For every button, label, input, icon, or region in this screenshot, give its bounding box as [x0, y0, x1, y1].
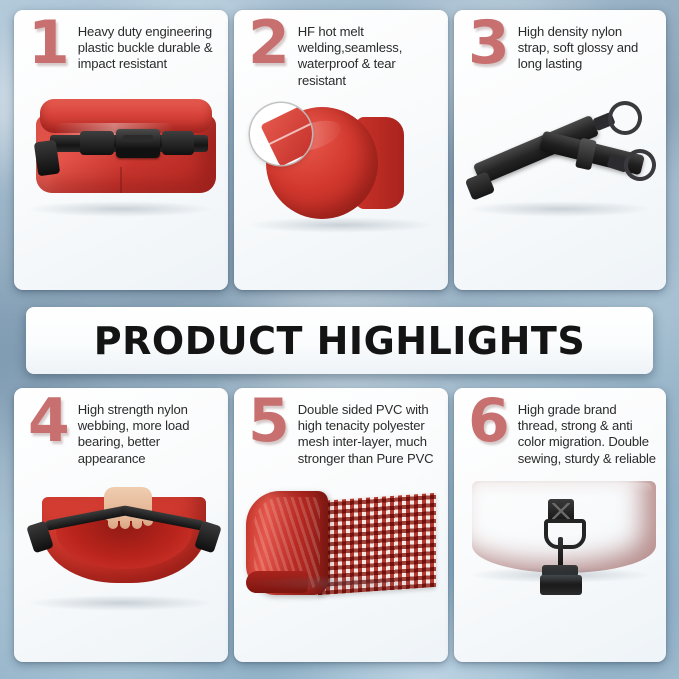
feature-image-2 [234, 93, 448, 245]
magnifier-callout-icon [250, 103, 312, 165]
feature-image-1 [14, 77, 228, 229]
feature-card-6: 6 High grade brand thread, strong & anti… [454, 388, 666, 662]
black-nylon-shoulder-strap-photo [466, 91, 662, 203]
feature-text-2: HF hot melt welding,seamless, waterproof… [298, 21, 438, 89]
feature-number-6: 6 [468, 395, 510, 447]
product-highlights-banner: PRODUCT HIGHLIGHTS [26, 307, 653, 374]
feature-card-4: 4 High strength nylon webbing, more load… [14, 388, 228, 662]
product-shadow [467, 567, 654, 583]
feature-header-2: 2 HF hot melt welding,seamless, waterpro… [234, 10, 448, 89]
hand-holding-bag-webbing-photo [26, 483, 222, 599]
feature-number-3: 3 [468, 17, 510, 69]
feature-text-5: Double sided PVC with high tenacity poly… [298, 399, 438, 467]
feature-card-5: 5 Double sided PVC with high tenacity po… [234, 388, 448, 662]
feature-header-3: 3 High density nylon strap, soft glossy … [454, 10, 666, 73]
feature-text-1: Heavy duty engineering plastic buckle du… [78, 21, 218, 73]
product-shadow [27, 595, 215, 611]
feature-image-5 [234, 475, 448, 603]
feature-card-1: 1 Heavy duty engineering plastic buckle … [14, 10, 228, 290]
infographic-canvas: 1 Heavy duty engineering plastic buckle … [0, 0, 679, 679]
feature-header-4: 4 High strength nylon webbing, more load… [14, 388, 228, 467]
feature-text-3: High density nylon strap, soft glossy an… [518, 21, 656, 73]
feature-number-4: 4 [28, 395, 70, 447]
feature-header-1: 1 Heavy duty engineering plastic buckle … [14, 10, 228, 73]
product-shadow [27, 201, 215, 217]
feature-header-6: 6 High grade brand thread, strong & anti… [454, 388, 666, 467]
feature-image-6 [454, 469, 666, 595]
red-dry-bag-with-black-buckle-photo [28, 93, 224, 197]
feature-card-3: 3 High density nylon strap, soft glossy … [454, 10, 666, 290]
feature-text-4: High strength nylon webbing, more load b… [78, 399, 218, 467]
bag-bottom-weld-seam-magnified-photo [244, 101, 444, 225]
product-shadow [247, 575, 435, 591]
feature-number-1: 1 [28, 17, 70, 69]
feature-image-3 [454, 77, 666, 229]
feature-number-2: 2 [248, 17, 290, 69]
feature-text-6: High grade brand thread, strong & anti c… [518, 399, 656, 467]
feature-header-5: 5 Double sided PVC with high tenacity po… [234, 388, 448, 467]
product-shadow [247, 217, 435, 233]
feature-image-4 [14, 471, 228, 623]
d-ring-icon [544, 519, 586, 549]
feature-card-2: 2 HF hot melt welding,seamless, waterpro… [234, 10, 448, 290]
feature-number-5: 5 [248, 395, 290, 447]
banner-title: PRODUCT HIGHLIGHTS [94, 319, 585, 363]
product-shadow [467, 201, 654, 217]
